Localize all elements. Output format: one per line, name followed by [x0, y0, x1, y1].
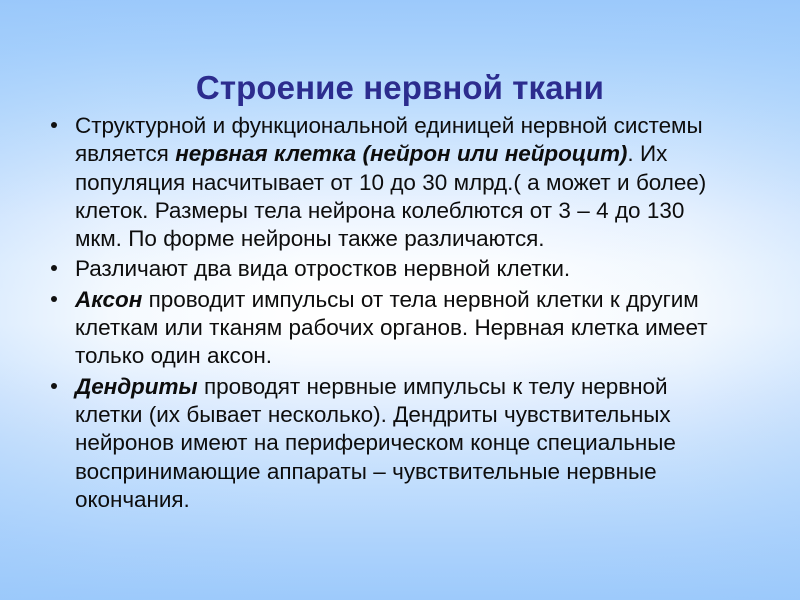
- page-title: Строение нервной ткани: [40, 70, 760, 107]
- emphasized-term: Аксон: [75, 287, 142, 312]
- bullet-point-icon: [51, 265, 57, 271]
- text-run: проводит импульсы от тела нервной клетки…: [75, 287, 707, 369]
- bullet-list: Структурной и функциональной единицей не…: [46, 112, 736, 516]
- bullet-point-icon: [51, 383, 57, 389]
- list-item-text: Дендриты проводят нервные импульсы к тел…: [75, 373, 736, 514]
- presentation-slide: Строение нервной ткани Структурной и фун…: [0, 0, 800, 600]
- list-item-text: Аксон проводит импульсы от тела нервной …: [75, 286, 736, 371]
- emphasized-term: нервная клетка (нейрон или нейроцит): [175, 141, 627, 166]
- list-item-text: Различают два вида отростков нервной кле…: [75, 255, 736, 283]
- emphasized-term: Дендриты: [75, 374, 198, 399]
- text-run: Различают два вида отростков нервной кле…: [75, 256, 570, 281]
- bullet-neuron-definition: Структурной и функциональной единицей не…: [46, 112, 736, 253]
- bullet-point-icon: [51, 122, 57, 128]
- bullet-two-process-types: Различают два вида отростков нервной кле…: [46, 255, 736, 283]
- slide-content: Строение нервной ткани Структурной и фун…: [0, 0, 800, 600]
- list-item-text: Структурной и функциональной единицей не…: [75, 112, 736, 253]
- bullet-dendrites: Дендриты проводят нервные импульсы к тел…: [46, 373, 736, 514]
- bullet-axon: Аксон проводит импульсы от тела нервной …: [46, 286, 736, 371]
- bullet-point-icon: [51, 296, 57, 302]
